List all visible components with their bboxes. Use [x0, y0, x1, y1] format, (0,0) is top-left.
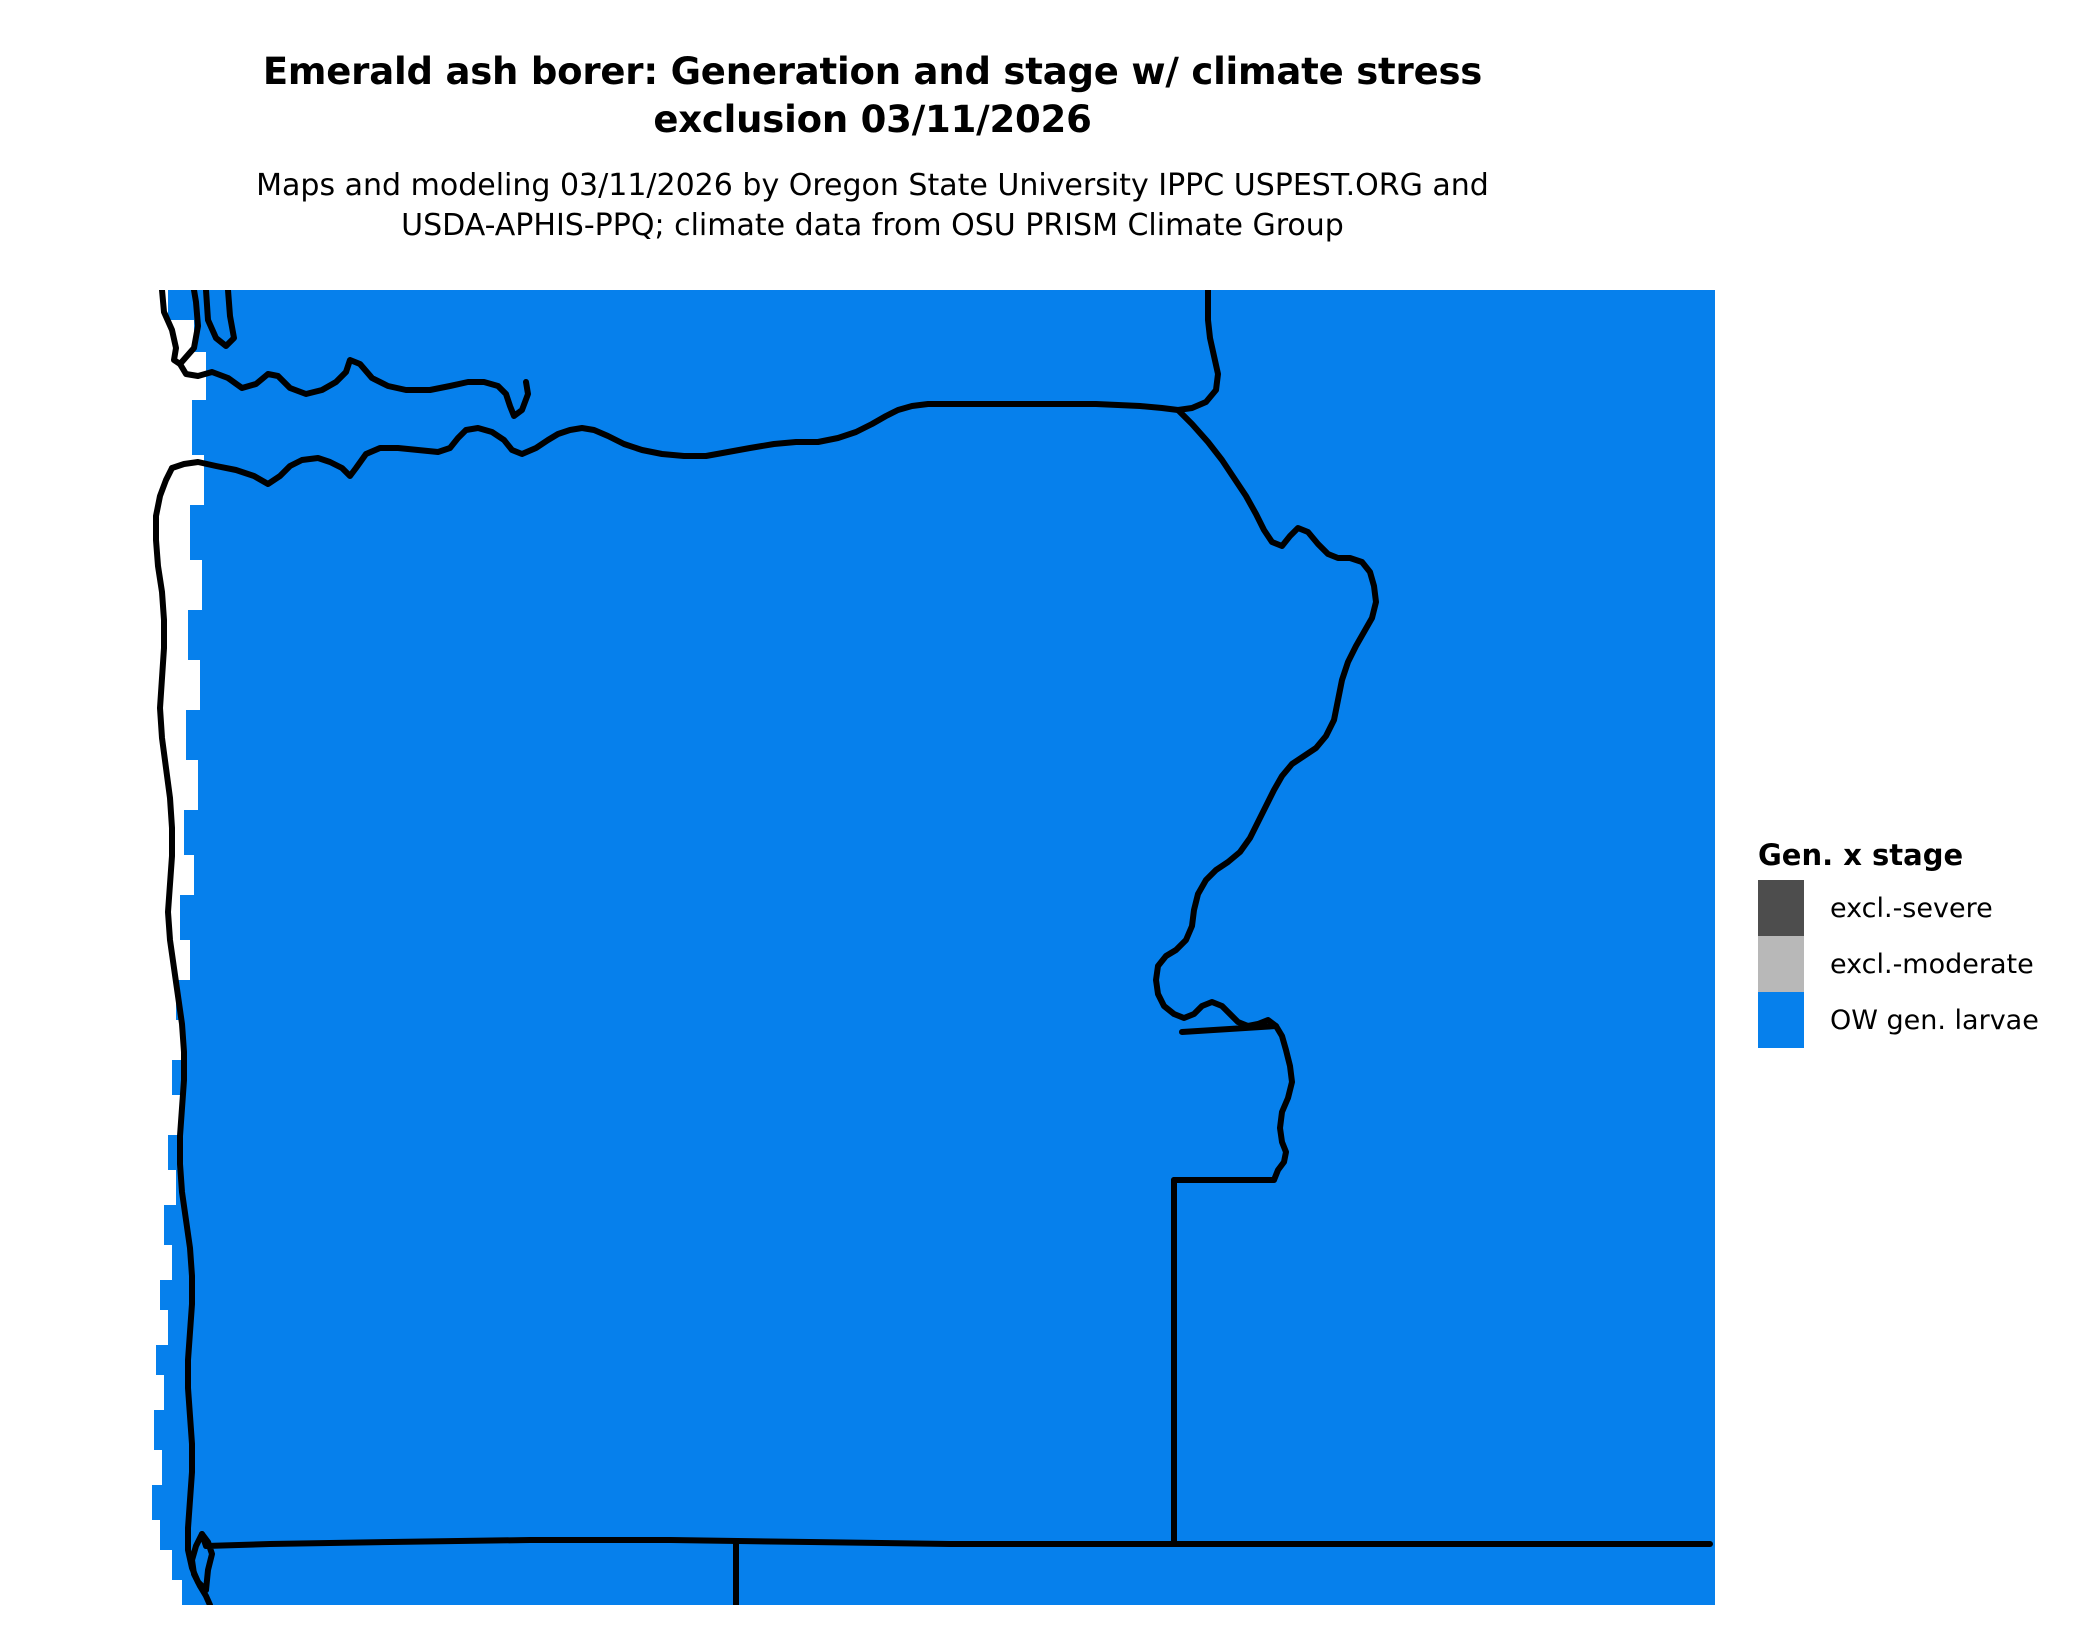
page-title-line-1: Emerald ash borer: Generation and stage … — [263, 50, 1482, 93]
map-canvas[interactable] — [150, 290, 1715, 1605]
legend-item-ow-gen-larvae[interactable]: OW gen. larvae — [1758, 992, 2088, 1048]
legend: Gen. x stage excl.-severe excl.-moderate… — [1758, 838, 2088, 1048]
page-subtitle-line-1: Maps and modeling 03/11/2026 by Oregon S… — [256, 168, 1489, 203]
map-svg — [150, 290, 1715, 1605]
page-subtitle-line-2: USDA-APHIS-PPQ; climate data from OSU PR… — [401, 208, 1344, 243]
map-page: Emerald ash borer: Generation and stage … — [0, 0, 2100, 1645]
legend-item-excl-moderate[interactable]: excl.-moderate — [1758, 936, 2088, 992]
legend-swatch-excl-moderate — [1758, 936, 1804, 992]
legend-swatch-excl-severe — [1758, 880, 1804, 936]
legend-title: Gen. x stage — [1758, 838, 2088, 872]
page-title-line-2: exclusion 03/11/2026 — [653, 98, 1091, 141]
legend-items: excl.-severe excl.-moderate OW gen. larv… — [1758, 880, 2088, 1048]
legend-label-excl-moderate: excl.-moderate — [1830, 949, 2034, 980]
legend-swatch-ow-gen-larvae — [1758, 992, 1804, 1048]
map-header: Emerald ash borer: Generation and stage … — [0, 0, 1745, 245]
raster-ow-gen-larvae — [152, 290, 1715, 1605]
raster-class-layer — [152, 290, 1715, 1605]
legend-item-excl-severe[interactable]: excl.-severe — [1758, 880, 2088, 936]
legend-label-ow-gen-larvae: OW gen. larvae — [1830, 1005, 2039, 1036]
page-title: Emerald ash borer: Generation and stage … — [93, 48, 1653, 144]
legend-label-excl-severe: excl.-severe — [1830, 893, 1993, 924]
page-subtitle: Maps and modeling 03/11/2026 by Oregon S… — [93, 166, 1653, 245]
